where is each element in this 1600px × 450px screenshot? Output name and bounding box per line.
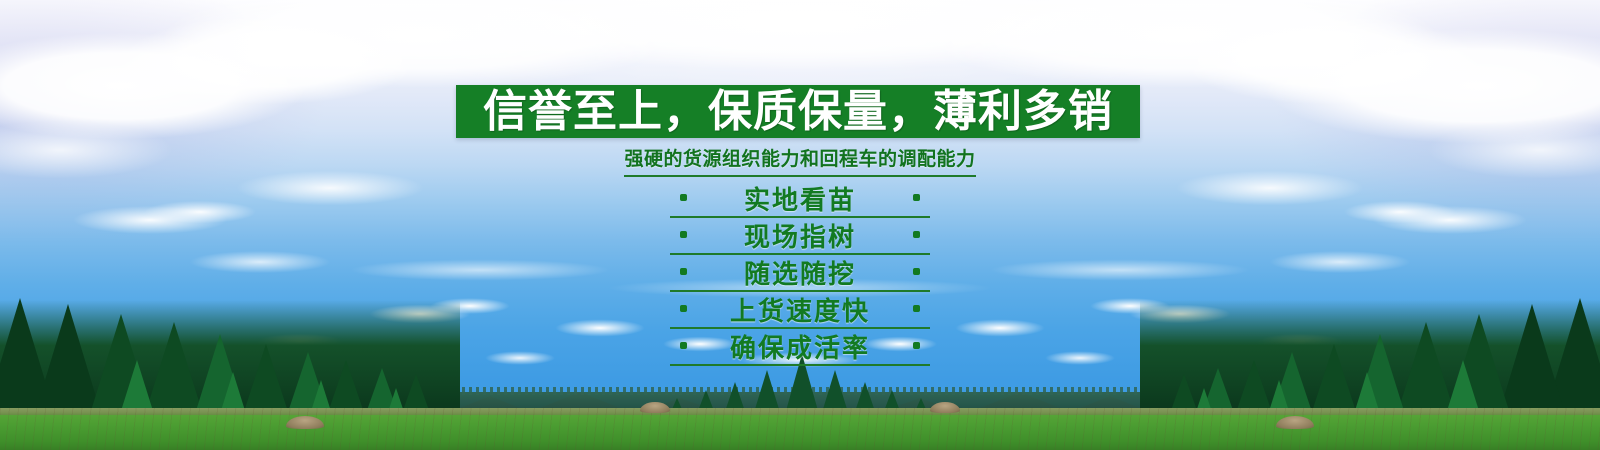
promo-banner: 信誉至上，保质保量，薄利多销 强硬的货源组织能力和回程车的调配能力 实地看苗 现… [0, 0, 1600, 450]
feature-item: 上货速度快 [670, 292, 930, 329]
dot-icon [913, 268, 920, 275]
feature-label: 实地看苗 [744, 180, 856, 217]
headline-text: 信誉至上，保质保量，薄利多销 [483, 90, 1113, 134]
feature-label: 确保成活率 [730, 328, 870, 365]
feature-item: 实地看苗 [670, 181, 930, 218]
headline-bar: 信誉至上，保质保量，薄利多销 [456, 85, 1140, 138]
dot-icon [680, 305, 687, 312]
dot-icon [913, 231, 920, 238]
subheadline-wrapper: 强硬的货源组织能力和回程车的调配能力 [0, 144, 1600, 177]
feature-label: 随选随挖 [744, 254, 856, 291]
feature-item: 随选随挖 [670, 255, 930, 292]
dot-icon [680, 342, 687, 349]
feature-list: 实地看苗 现场指树 随选随挖 上货速度快 确保成活率 [0, 181, 1600, 366]
feature-label: 现场指树 [744, 217, 856, 254]
dot-icon [913, 342, 920, 349]
banner-content: 信誉至上，保质保量，薄利多销 强硬的货源组织能力和回程车的调配能力 实地看苗 现… [0, 0, 1600, 450]
dot-icon [680, 194, 687, 201]
subheadline-text: 强硬的货源组织能力和回程车的调配能力 [624, 144, 975, 177]
dot-icon [680, 268, 687, 275]
feature-label: 上货速度快 [730, 291, 870, 328]
dot-icon [680, 231, 687, 238]
dot-icon [913, 194, 920, 201]
dot-icon [913, 305, 920, 312]
feature-item: 确保成活率 [670, 329, 930, 366]
feature-item: 现场指树 [670, 218, 930, 255]
